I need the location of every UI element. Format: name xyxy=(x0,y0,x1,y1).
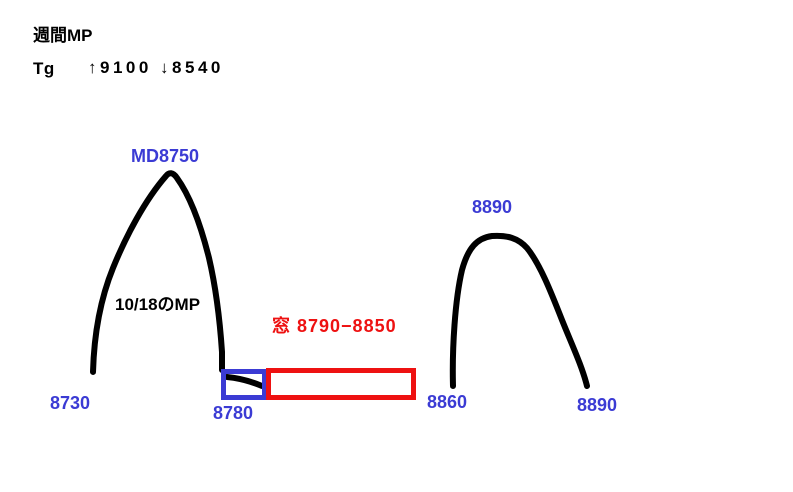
label-md-peak: MD8750 xyxy=(131,147,199,165)
target-values: ↑9100 ↓8540 xyxy=(88,59,224,76)
mp-chart-canvas: 週間MP Tg ↑9100 ↓8540 MD8750 10/18のMP 窓 87… xyxy=(0,0,793,492)
page-title: 週間MP xyxy=(33,27,93,44)
label-right-right-base: 8890 xyxy=(577,396,617,414)
label-mp-date: 10/18のMP xyxy=(115,296,200,313)
label-mid-base: 8780 xyxy=(213,404,253,422)
left-mp-curve xyxy=(93,173,222,372)
label-right-peak: 8890 xyxy=(472,198,512,216)
red-window-box xyxy=(266,368,416,400)
right-mp-curve xyxy=(453,236,587,386)
label-window-range: 窓 8790−8850 xyxy=(272,317,397,335)
target-label: Tg xyxy=(33,60,55,77)
blue-highlight-box xyxy=(221,369,267,400)
label-right-left-base: 8860 xyxy=(427,393,467,411)
label-left-base: 8730 xyxy=(50,394,90,412)
